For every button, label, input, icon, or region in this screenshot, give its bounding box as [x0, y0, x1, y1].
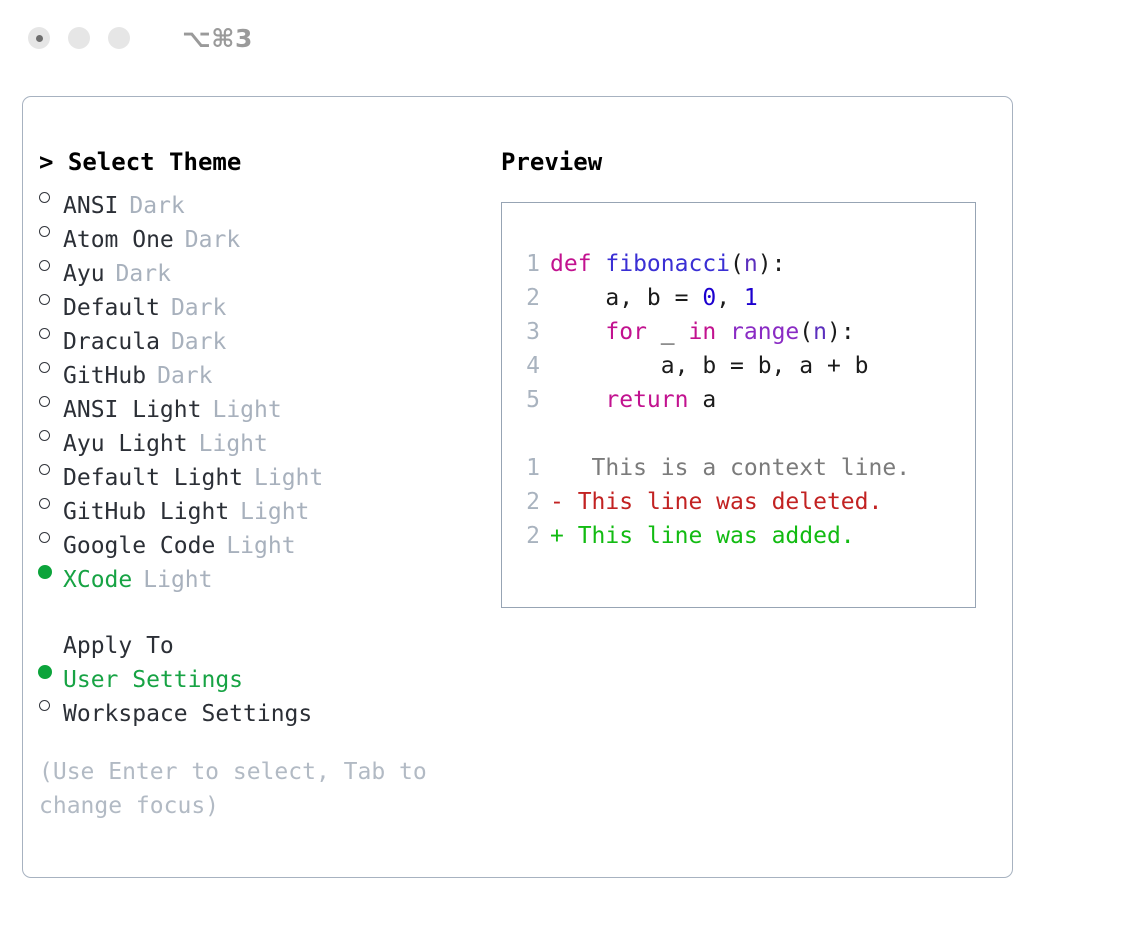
main-panel: > Select Theme ANSIDarkAtom OneDarkAyuDa… — [22, 96, 1013, 878]
code-token-plain: ): — [758, 251, 786, 277]
apply-to-header: Apply To — [39, 619, 479, 653]
preview-column: Preview 1def fibonacci(n):2 a, b = 0, 13… — [501, 145, 1001, 608]
diff-text: This line was added. — [564, 523, 855, 549]
theme-kind-label: Light — [240, 495, 309, 529]
code-line: 2 a, b = 0, 1 — [514, 281, 975, 315]
radio-selected-icon[interactable] — [39, 653, 63, 687]
theme-kind-label: Light — [226, 529, 295, 563]
code-line: 1def fibonacci(n): — [514, 247, 975, 281]
code-token-param: n — [744, 251, 758, 277]
theme-name-label: GitHub — [63, 359, 146, 393]
diff-line-number: 2 — [514, 519, 540, 553]
code-token-plain — [550, 319, 605, 345]
diff-line: 2- This line was deleted. — [514, 485, 975, 519]
diff-marker: + — [550, 523, 564, 549]
theme-name-label: Atom One — [63, 223, 174, 257]
app-window: ⌥⌘3 > Select Theme ANSIDarkAtom OneDarkA… — [0, 0, 1140, 934]
theme-name-label: Default Light — [63, 461, 243, 495]
theme-kind-label: Light — [143, 563, 212, 597]
radio-unselected-icon[interactable] — [39, 383, 63, 417]
theme-list-item[interactable]: DefaultDark — [39, 281, 479, 315]
radio-selected-icon[interactable] — [39, 553, 63, 587]
theme-name-label: Default — [63, 291, 160, 325]
diff-text: This is a context line. — [564, 455, 910, 481]
code-token-plain: a, b = b, a + b — [550, 353, 869, 379]
radio-unselected-icon[interactable] — [39, 281, 63, 315]
code-token-plain: ): — [827, 319, 855, 345]
code-sample: 1def fibonacci(n):2 a, b = 0, 13 for _ i… — [514, 247, 975, 417]
radio-unselected-icon[interactable] — [39, 213, 63, 247]
diff-marker — [550, 455, 564, 481]
radio-unselected-icon[interactable] — [39, 519, 63, 553]
code-line-number: 2 — [514, 281, 540, 315]
code-line: 5 return a — [514, 383, 975, 417]
apply-to-section: Apply To User SettingsWorkspace Settings — [39, 619, 479, 721]
code-line: 4 a, b = b, a + b — [514, 349, 975, 383]
radio-unselected-icon[interactable] — [39, 179, 63, 213]
keyboard-shortcut-label: ⌥⌘3 — [182, 24, 253, 53]
radio-unselected-icon[interactable] — [39, 687, 63, 721]
code-token-plain: ( — [799, 319, 813, 345]
theme-kind-label: Light — [254, 461, 323, 495]
apply-to-header-spacer — [39, 619, 63, 653]
preview-box: 1def fibonacci(n):2 a, b = 0, 13 for _ i… — [501, 202, 976, 608]
theme-name-label: GitHub Light — [63, 495, 229, 529]
apply-to-header-label: Apply To — [63, 629, 174, 663]
theme-kind-label: Dark — [129, 189, 184, 223]
theme-name-label: Ayu Light — [63, 427, 188, 461]
apply-to-item-label: Workspace Settings — [63, 697, 312, 731]
theme-name-label: Dracula — [63, 325, 160, 359]
preview-header: Preview — [501, 145, 1001, 179]
radio-unselected-icon[interactable] — [39, 451, 63, 485]
theme-kind-label: Light — [212, 393, 281, 427]
code-line-number: 1 — [514, 247, 540, 281]
diff-text: This line was deleted. — [564, 489, 883, 515]
theme-kind-label: Dark — [171, 325, 226, 359]
theme-selection-column: > Select Theme ANSIDarkAtom OneDarkAyuDa… — [39, 145, 479, 823]
code-token-num: 1 — [744, 285, 758, 311]
code-line-number: 4 — [514, 349, 540, 383]
code-line: 3 for _ in range(n): — [514, 315, 975, 349]
code-token-plain: ( — [730, 251, 744, 277]
radio-unselected-icon[interactable] — [39, 417, 63, 451]
radio-unselected-icon[interactable] — [39, 247, 63, 281]
window-control-minimize-icon[interactable] — [68, 27, 90, 49]
radio-unselected-icon[interactable] — [39, 315, 63, 349]
code-token-plain: a — [688, 387, 716, 413]
code-token-kw: for — [605, 319, 647, 345]
code-token-plain: _ — [647, 319, 689, 345]
theme-kind-label: Dark — [116, 257, 171, 291]
theme-name-label: Ayu — [63, 257, 105, 291]
code-token-builtin: range — [730, 319, 799, 345]
window-control-maximize-icon[interactable] — [108, 27, 130, 49]
code-token-num: 0 — [702, 285, 716, 311]
theme-list-item[interactable]: ANSIDark — [39, 179, 479, 213]
diff-sample: 1 This is a context line.2- This line wa… — [514, 451, 975, 553]
theme-name-label: ANSI — [63, 189, 118, 223]
theme-kind-label: Dark — [171, 291, 226, 325]
code-token-param: n — [813, 319, 827, 345]
keyboard-hint-text: (Use Enter to select, Tab to change focu… — [39, 755, 459, 823]
theme-list[interactable]: ANSIDarkAtom OneDarkAyuDarkDefaultDarkDr… — [39, 179, 479, 587]
diff-line: 2+ This line was added. — [514, 519, 975, 553]
title-bar: ⌥⌘3 — [0, 0, 1140, 76]
theme-name-label: XCode — [63, 563, 132, 597]
code-token-kw: def — [550, 251, 605, 277]
code-token-plain — [550, 387, 605, 413]
radio-unselected-icon[interactable] — [39, 485, 63, 519]
apply-to-item-label: User Settings — [63, 663, 243, 697]
code-token-kw: in — [688, 319, 716, 345]
diff-marker: - — [550, 489, 564, 515]
theme-kind-label: Dark — [185, 223, 240, 257]
select-theme-header: > Select Theme — [39, 145, 479, 179]
diff-line-number: 1 — [514, 451, 540, 485]
theme-name-label: Google Code — [63, 529, 215, 563]
code-token-plain: a, b = — [550, 285, 702, 311]
diff-line-number: 2 — [514, 485, 540, 519]
window-control-close-icon[interactable] — [28, 27, 50, 49]
apply-to-list[interactable]: User SettingsWorkspace Settings — [39, 653, 479, 721]
window-controls[interactable] — [28, 27, 130, 49]
code-spacer — [514, 417, 975, 451]
code-token-kw: return — [605, 387, 688, 413]
code-line-number: 5 — [514, 383, 540, 417]
code-token-plain: , — [716, 285, 744, 311]
diff-line: 1 This is a context line. — [514, 451, 975, 485]
code-token-plain — [716, 319, 730, 345]
theme-kind-label: Dark — [157, 359, 212, 393]
radio-unselected-icon[interactable] — [39, 349, 63, 383]
theme-kind-label: Light — [199, 427, 268, 461]
code-line-number: 3 — [514, 315, 540, 349]
theme-name-label: ANSI Light — [63, 393, 201, 427]
code-token-fn: fibonacci — [605, 251, 730, 277]
